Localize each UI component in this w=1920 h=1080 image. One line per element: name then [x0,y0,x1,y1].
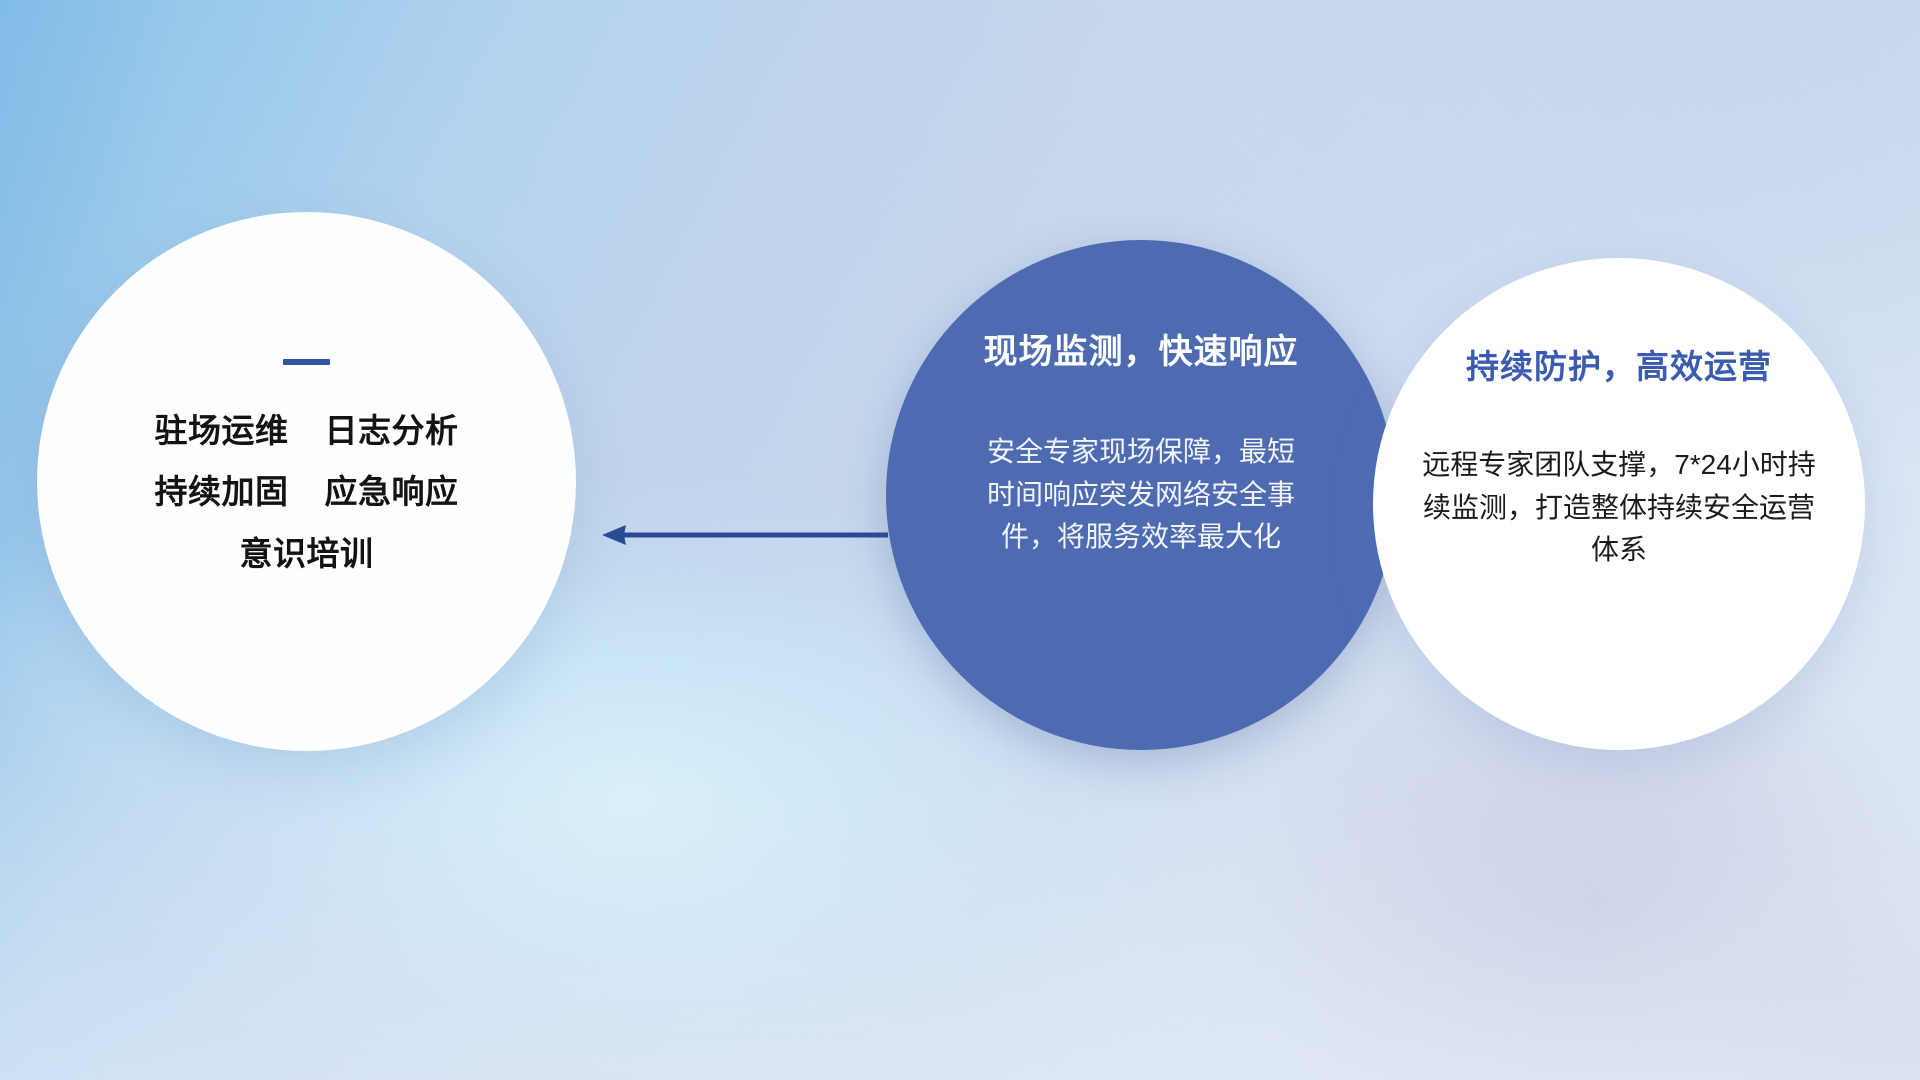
service-tag-row: 持续加固 应急响应 [155,474,459,510]
service-tag: 驻场运维 [155,413,289,449]
infographic-canvas: 现场监测，快速响应 安全专家现场保障，最短时间响应突发网络安全事件，将服务效率最… [0,0,1920,1080]
service-tag-grid: 驻场运维 日志分析 持续加固 应急响应 意识培训 [155,413,459,572]
service-tag-row: 意识培训 [240,536,374,572]
service-tag: 应急响应 [325,474,459,510]
service-tag: 日志分析 [325,413,459,449]
circle-mid-title: 现场监测，快速响应 [984,324,1299,373]
circle-card-service-tags[interactable]: 驻场运维 日志分析 持续加固 应急响应 意识培训 [37,212,576,751]
circle-card-continuous-protection[interactable]: 持续防护，高效运营 远程专家团队支撑，7*24小时持续监测，打造整体持续安全运营… [1373,258,1865,750]
dash-divider-icon [283,359,330,365]
circle-mid-body-text: 安全专家现场保障，最短时间响应突发网络安全事件，将服务效率最大化 [976,431,1306,559]
service-tag: 持续加固 [155,474,289,510]
service-tag-row: 驻场运维 日志分析 [155,413,459,449]
circle-left-content: 驻场运维 日志分析 持续加固 应急响应 意识培训 [37,212,576,572]
service-tag: 意识培训 [240,536,374,572]
circle-card-onsite-monitoring[interactable]: 现场监测，快速响应 安全专家现场保障，最短时间响应突发网络安全事件，将服务效率最… [886,240,1396,750]
circle-right-title: 持续防护，高效运营 [1466,340,1772,388]
circle-right-body-text: 远程专家团队支撑，7*24小时持续监测，打造整体持续安全运营体系 [1414,444,1824,572]
